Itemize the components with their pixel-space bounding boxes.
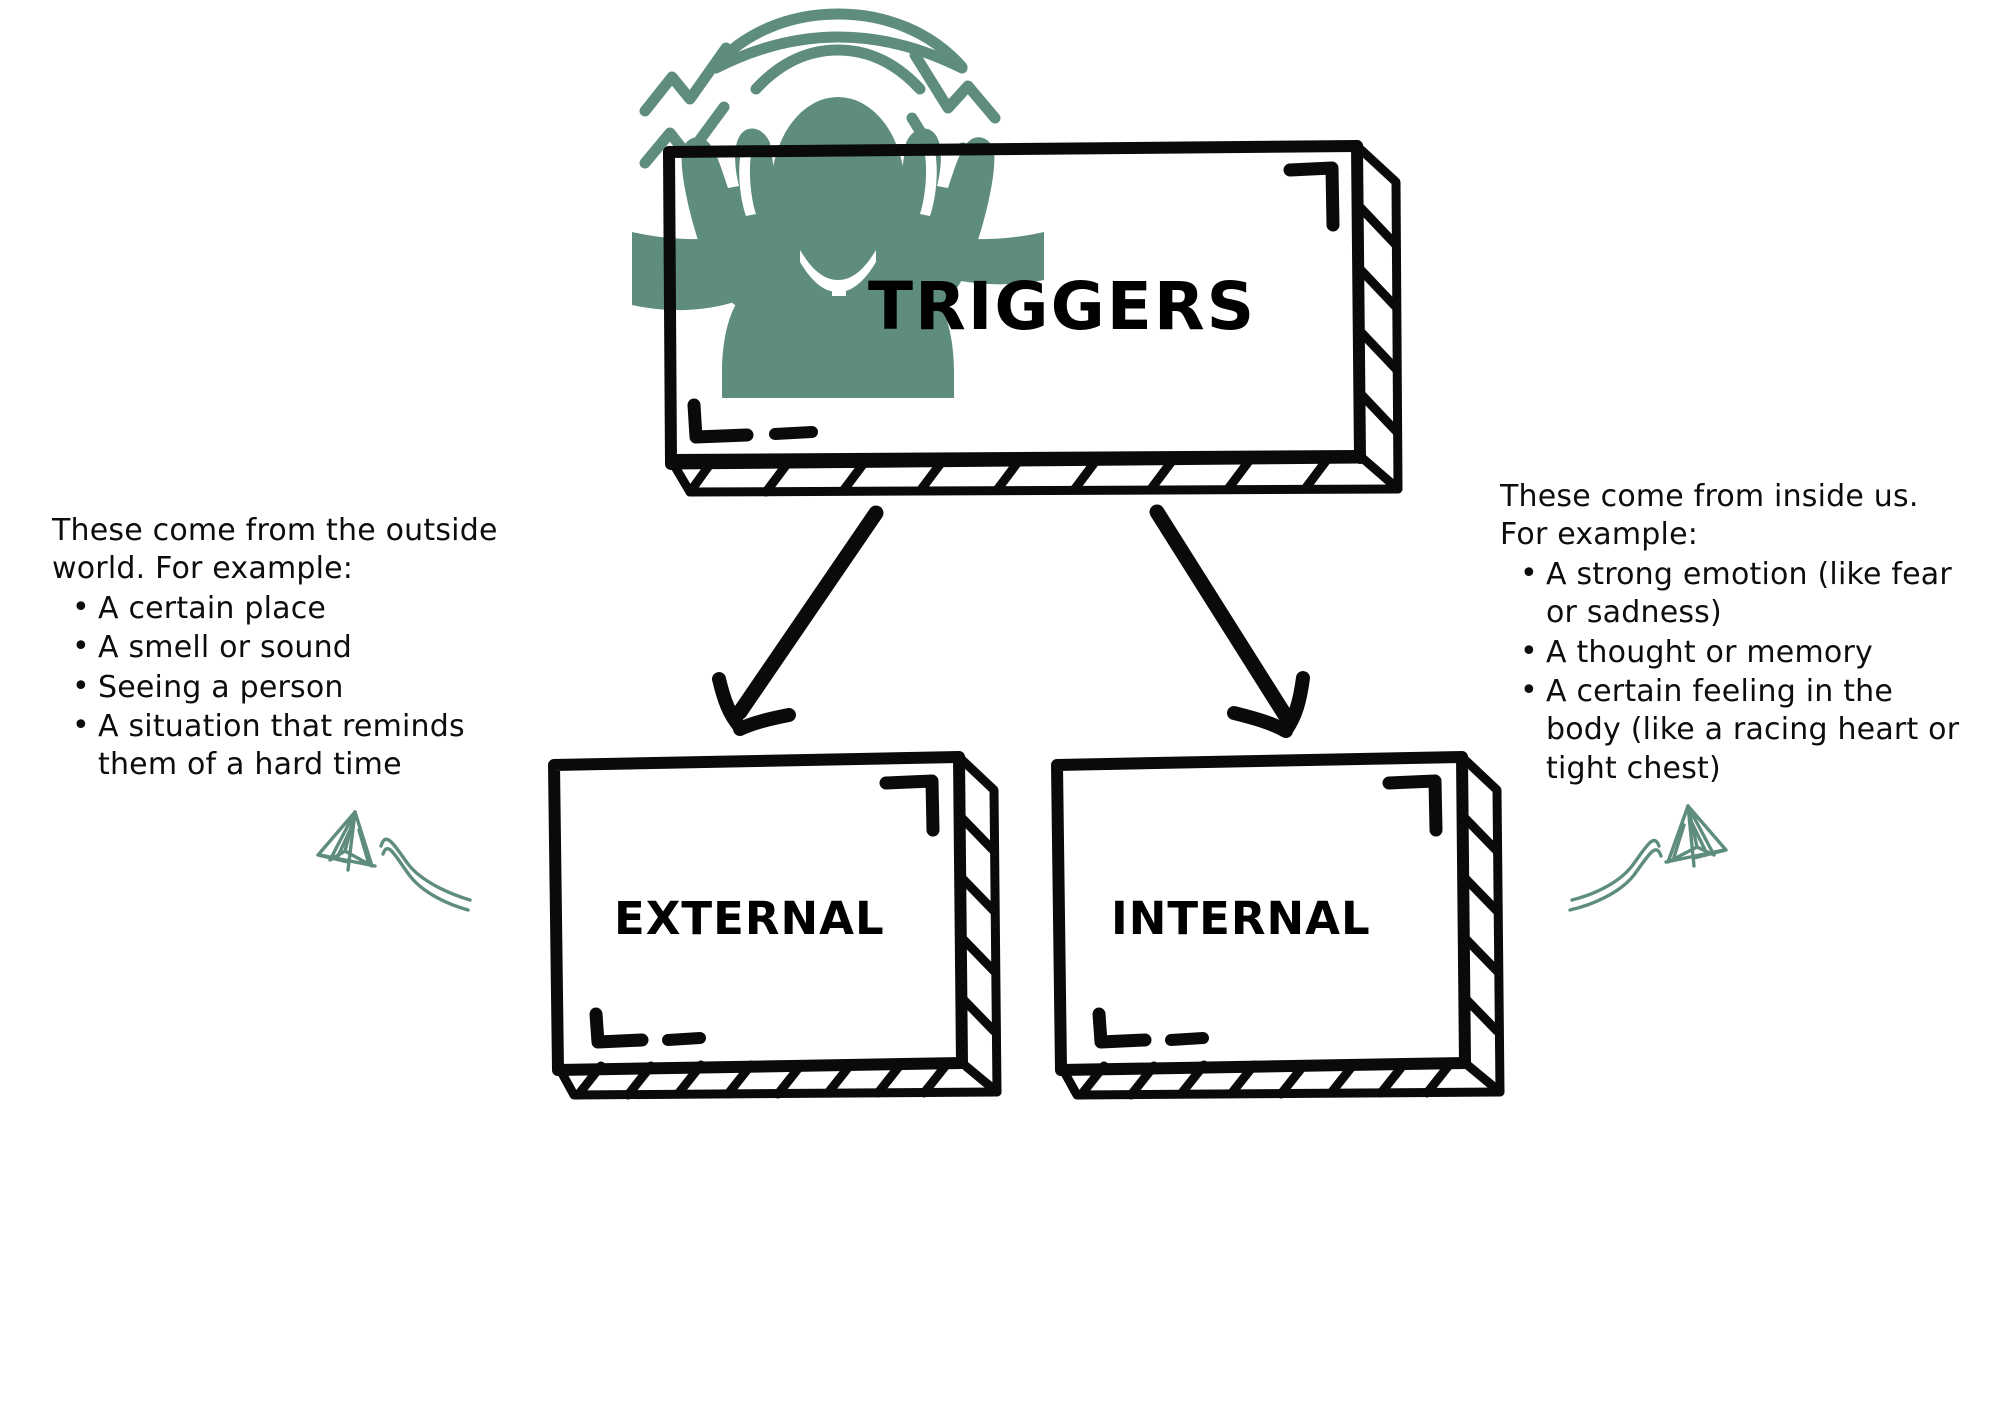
external-box-label: EXTERNAL — [614, 892, 885, 945]
list-item: A situation that reminds them of a hard … — [96, 708, 552, 785]
external-note-lead: These come from the outside world. For e… — [52, 512, 552, 589]
list-item: A certain place — [96, 590, 552, 628]
curved-arrow-up-left-icon — [318, 812, 470, 910]
list-item: A certain feeling in the body (like a ra… — [1544, 673, 1970, 788]
external-note-list: A certain place A smell or sound Seeing … — [52, 590, 552, 785]
list-item: A thought or memory — [1544, 634, 1970, 672]
external-examples-note: These come from the outside world. For e… — [52, 512, 552, 786]
list-item: Seeing a person — [96, 669, 552, 707]
list-item: A smell or sound — [96, 629, 552, 667]
internal-note-lead: These come from inside us. For example: — [1500, 478, 1970, 555]
diagram-canvas: TRIGGERS EXTERNAL INTERNAL These come fr… — [0, 0, 2000, 1414]
curved-arrow-up-right-icon — [1570, 806, 1726, 910]
list-item: A strong emotion (like fear or sadness) — [1544, 556, 1970, 633]
triggers-box-label: TRIGGERS — [868, 268, 1256, 345]
internal-examples-note: These come from inside us. For example: … — [1500, 478, 1970, 789]
internal-note-list: A strong emotion (like fear or sadness) … — [1500, 556, 1970, 788]
internal-box-label: INTERNAL — [1111, 892, 1371, 945]
